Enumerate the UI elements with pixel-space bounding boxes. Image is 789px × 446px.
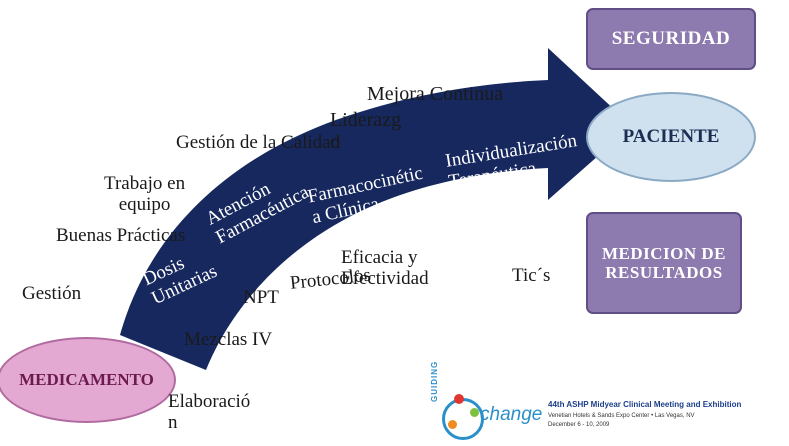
label-buenas-practicas: Buenas Prácticas — [56, 226, 185, 247]
label-trabajo-equipo: Trabajo en equipo — [104, 174, 185, 215]
label-elaboracion: Elaboració n — [168, 392, 250, 433]
ellipse-paciente-label: PACIENTE — [623, 126, 720, 148]
label-npt: NPT — [243, 288, 279, 309]
ashp-logo: GUIDING change 44th ASHP Midyear Clinica… — [430, 392, 766, 444]
logo-dot-green-icon — [470, 408, 479, 417]
diagram-canvas: SEGURIDAD MEDICION DE RESULTADOS PACIENT… — [0, 0, 789, 446]
label-liderazgo: Liderazg o — [330, 110, 401, 153]
box-seguridad-label: SEGURIDAD — [612, 28, 731, 49]
label-gestion-calidad: Gestión de la Calidad — [176, 133, 340, 154]
label-gestion: Gestión — [22, 284, 81, 305]
logo-circle-icon — [442, 398, 484, 440]
logo-guiding-text: GUIDING — [430, 361, 439, 402]
ellipse-paciente: PACIENTE — [586, 92, 756, 182]
logo-dot-red-icon — [454, 394, 464, 404]
box-medicion-label: MEDICION DE RESULTADOS — [594, 244, 734, 282]
logo-venue-text: Venetian Hotels & Sands Expo Center • La… — [548, 412, 695, 429]
logo-dot-orange-icon — [448, 420, 457, 429]
box-seguridad: SEGURIDAD — [586, 8, 756, 70]
ellipse-medicamento: MEDICAMENTO — [0, 337, 176, 423]
label-mejora-continua: Mejora Continua — [367, 84, 503, 106]
ellipse-medicamento-label: MEDICAMENTO — [19, 370, 154, 390]
logo-change-text: change — [480, 404, 542, 426]
logo-meeting-title: 44th ASHP Midyear Clinical Meeting and E… — [548, 400, 741, 409]
label-mezclas-iv: Mezclas IV — [184, 330, 272, 351]
box-medicion-resultados: MEDICION DE RESULTADOS — [586, 212, 742, 314]
label-tics: Tic´s — [512, 266, 550, 287]
